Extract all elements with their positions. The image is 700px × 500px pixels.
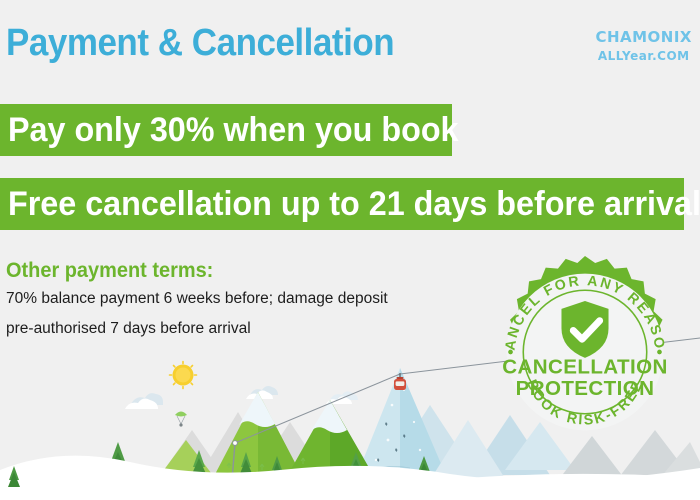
terms-line-1: 70% balance payment 6 weeks before; dama… [6,284,456,314]
terms-line-2: pre-authorised 7 days before arrival [6,314,456,344]
terms-heading: Other payment terms: [6,258,434,284]
banner-free-cancellation: Free cancellation up to 21 days before a… [0,178,684,230]
chamonix-all-year-logo[interactable]: CHAMONIX ALLYear.COM [595,28,692,66]
banner-deposit-label: Pay only 30% when you book [8,111,459,150]
logo-line-1: CHAMONIX [595,28,692,47]
sun-icon [170,362,197,389]
page-title: Payment & Cancellation [6,22,394,64]
banner-free-cancellation-label: Free cancellation up to 21 days before a… [8,185,700,224]
banner-deposit: Pay only 30% when you book [0,104,452,156]
cancellation-protection-badge[interactable]: CANCEL FOR ANY REASON BOOK RISK-FREE CAN… [487,254,683,450]
logo-line-2: ALLYear.COM [595,47,692,66]
other-payment-terms: Other payment terms: 70% balance payment… [6,258,456,344]
badge-title-line-2: PROTECTION [516,377,655,400]
poster-canvas: Payment & Cancellation CHAMONIX ALLYear.… [0,0,700,500]
badge-title-line-1: CANCELLATION [502,356,668,379]
